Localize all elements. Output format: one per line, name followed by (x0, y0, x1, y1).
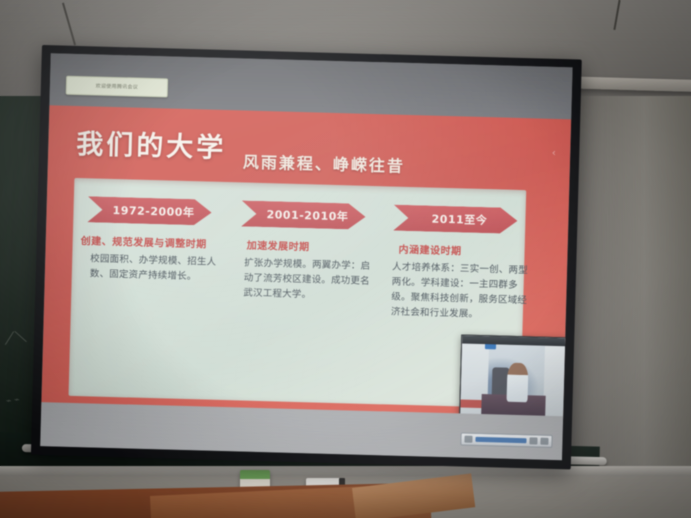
floating-meeting-toolbar[interactable] (460, 432, 552, 447)
chalk-writing: ⌁ ⌁ (5, 395, 20, 407)
timeline-column-2: 2001-2010年 加速发展时期 扩张办学规模。两翼办学：启动了流芳校区建设。… (222, 182, 380, 404)
projection-screen: 欢迎使用腾讯会议 我们的大学 风雨兼程、峥嵘往昔 ‹ 1972-2000年 创建… (31, 45, 582, 469)
video-red-strip (460, 399, 483, 408)
timeline-panel: 1972-2000年 创建、规范发展与调整时期 校园面积、办学规模、招生人数、固… (69, 178, 527, 408)
presentation-slide: 我们的大学 风雨兼程、峥嵘往昔 ‹ 1972-2000年 创建、规范发展与调整时… (41, 105, 571, 423)
timeline-heading-1: 创建、规范发展与调整时期 (81, 232, 221, 251)
timeline-chevron-1: 1972-2000年 (87, 196, 212, 225)
timeline-body-1: 校园面积、办学规模、招生人数、固定资产持续增长。 (90, 251, 219, 284)
wall-ledge (0, 466, 691, 476)
webcam-video-feed (460, 335, 566, 423)
slide-prev-arrow-icon[interactable]: ‹ (547, 147, 560, 160)
video-presenter-figure (506, 362, 528, 402)
toolbar-mic-icon[interactable] (464, 436, 472, 443)
meeting-tooltip-chip: 欢迎使用腾讯会议 (66, 76, 168, 98)
video-conference-window[interactable] (459, 334, 567, 423)
video-wall-right (543, 338, 566, 424)
wall-right (575, 96, 691, 496)
timeline-heading-3: 内涵建设时期 (398, 241, 528, 260)
timeline-body-2: 扩张办学规模。两翼办学：启动了流芳校区建设。成功更名武汉工程大学。 (243, 256, 372, 304)
timeline-heading-2: 加速发展时期 (246, 237, 372, 255)
slide-title: 我们的大学 (76, 122, 227, 165)
timeline-period-label: 1972-2000年 (104, 202, 194, 220)
timeline-chevron-2: 2001-2010年 (241, 200, 366, 229)
projected-desktop: 欢迎使用腾讯会议 我们的大学 风雨兼程、峥嵘往昔 ‹ 1972-2000年 创建… (40, 53, 572, 460)
toolbar-more-icon[interactable] (540, 438, 548, 445)
toolbar-share-bar[interactable] (475, 437, 526, 443)
timeline-chevron-3: 2011至今 (393, 205, 518, 234)
classroom-photo-scene: ⟋⟍ ⌁ ⌁ 欢迎使用腾讯会议 我们的大学 风雨兼程、峥嵘往昔 ‹ 1972 (0, 0, 691, 518)
timeline-period-label: 2011至今 (423, 210, 487, 228)
slide-subtitle: 风雨兼程、峥嵘往昔 (243, 148, 406, 176)
timeline-column-1: 1972-2000年 创建、规范发展与调整时期 校园面积、办学规模、招生人数、固… (69, 178, 229, 400)
toolbar-camera-icon[interactable] (529, 437, 537, 444)
timeline-body-3: 人才培养体系：三实一创、两型两化。学科建设：一主四群多级。聚焦科技创新，服务区域… (391, 260, 529, 324)
timeline-period-label: 2001-2010年 (258, 206, 348, 224)
chalk-writing: ⟋⟍ (3, 327, 28, 350)
